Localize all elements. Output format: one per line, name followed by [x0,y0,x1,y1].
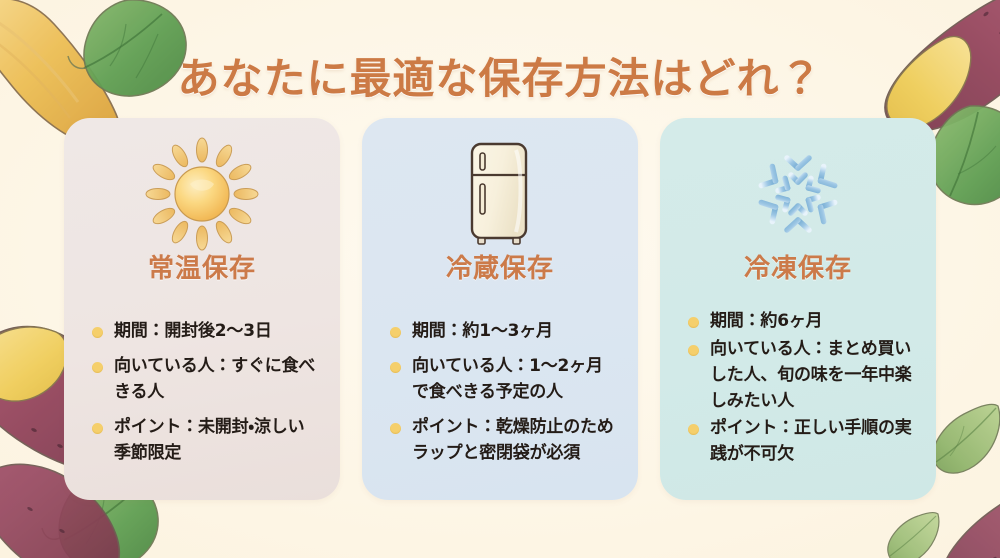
card-frozen[interactable]: 冷凍保存 期間：約6ヶ月 向いている人：まとめ買いした人、旬の味を一年中楽しみた… [660,118,936,500]
bullet-list-frozen: 期間：約6ヶ月 向いている人：まとめ買いした人、旬の味を一年中楽しみたい人 ポイ… [676,309,920,470]
list-item: 期間：約6ヶ月 [686,309,916,335]
page-title-container: あなたに最適な保存方法はどれ？ [0,28,1000,130]
slide-canvas: あなたに最適な保存方法はどれ？ [0,0,1000,558]
storage-method-cards: 常温保存 期間：開封後2〜3日 向いている人：すぐに食べきる人 ポイント：未開封… [0,118,1000,503]
leaf-small-bottom-right [880,510,950,558]
list-item: 期間：開封後2〜3日 [90,319,320,345]
card-title-refrigerated: 冷蔵保存 [446,254,554,285]
sun-icon [148,140,256,248]
bullet-list-room-temperature: 期間：開封後2〜3日 向いている人：すぐに食べきる人 ポイント：未開封・涼しい季… [80,319,324,475]
list-item: 向いている人：1〜2ヶ月で食べきる予定の人 [388,354,618,406]
refrigerator-icon [460,140,540,248]
list-item: 向いている人：まとめ買いした人、旬の味を一年中楽しみたい人 [686,337,916,414]
card-title-frozen: 冷凍保存 [744,254,852,285]
list-item: 期間：約1〜3ヶ月 [388,319,618,345]
list-item: ポイント：未開封・涼しい季節限定 [90,415,320,467]
list-item: ポイント：正しい手順の実践が不可欠 [686,416,916,468]
list-item: ポイント：乾燥防止のためラップと密閉袋が必須 [388,415,618,467]
snowflake-icon [746,140,850,248]
card-title-room-temperature: 常温保存 [148,254,256,285]
card-room-temperature[interactable]: 常温保存 期間：開封後2〜3日 向いている人：すぐに食べきる人 ポイント：未開封… [64,118,340,500]
list-item: 向いている人：すぐに食べきる人 [90,354,320,406]
bullet-list-refrigerated: 期間：約1〜3ヶ月 向いている人：1〜2ヶ月で食べきる予定の人 ポイント：乾燥防… [378,319,622,475]
page-title: あなたに最適な保存方法はどれ？ [177,56,822,102]
card-refrigerated[interactable]: 冷蔵保存 期間：約1〜3ヶ月 向いている人：1〜2ヶ月で食べきる予定の人 ポイン… [362,118,638,500]
